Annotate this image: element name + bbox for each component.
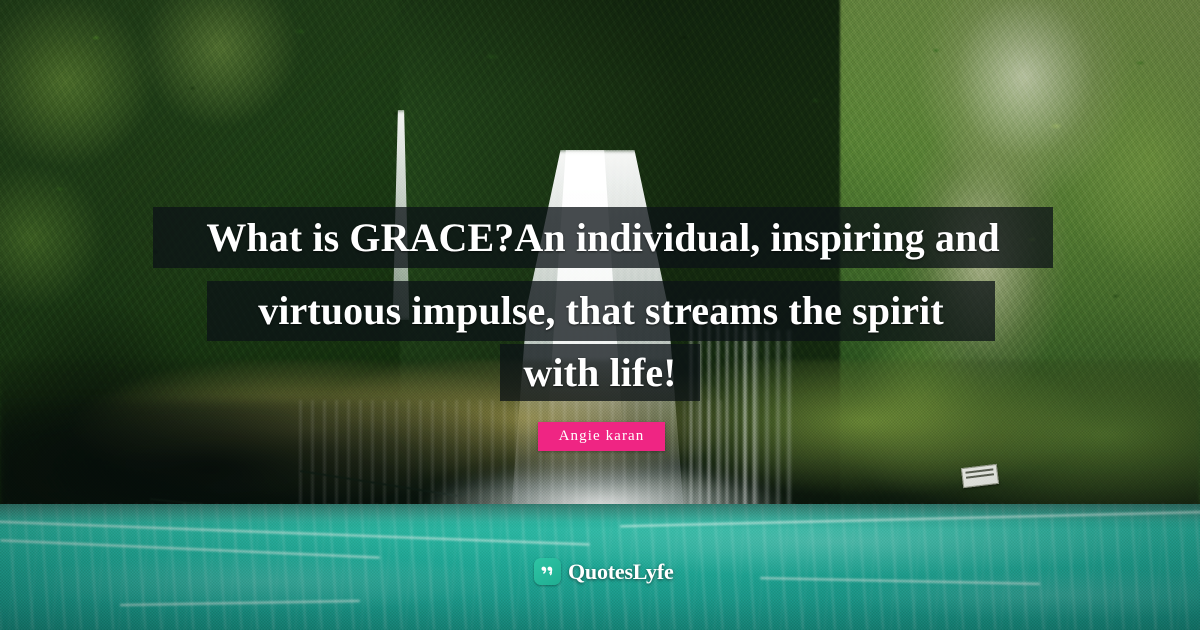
quote-line-3: with life! <box>500 344 700 401</box>
author-badge[interactable]: Angie karan <box>538 422 665 451</box>
quote-line-1: What is GRACE?An individual, inspiring a… <box>153 207 1053 268</box>
brand-logo[interactable]: QuotesLyfe <box>534 558 674 585</box>
quote-image-canvas: What is GRACE?An individual, inspiring a… <box>0 0 1200 630</box>
quote-line-2: virtuous impulse, that streams the spiri… <box>207 281 995 341</box>
quote-mark-icon <box>534 558 561 585</box>
brand-name: QuotesLyfe <box>568 559 674 585</box>
